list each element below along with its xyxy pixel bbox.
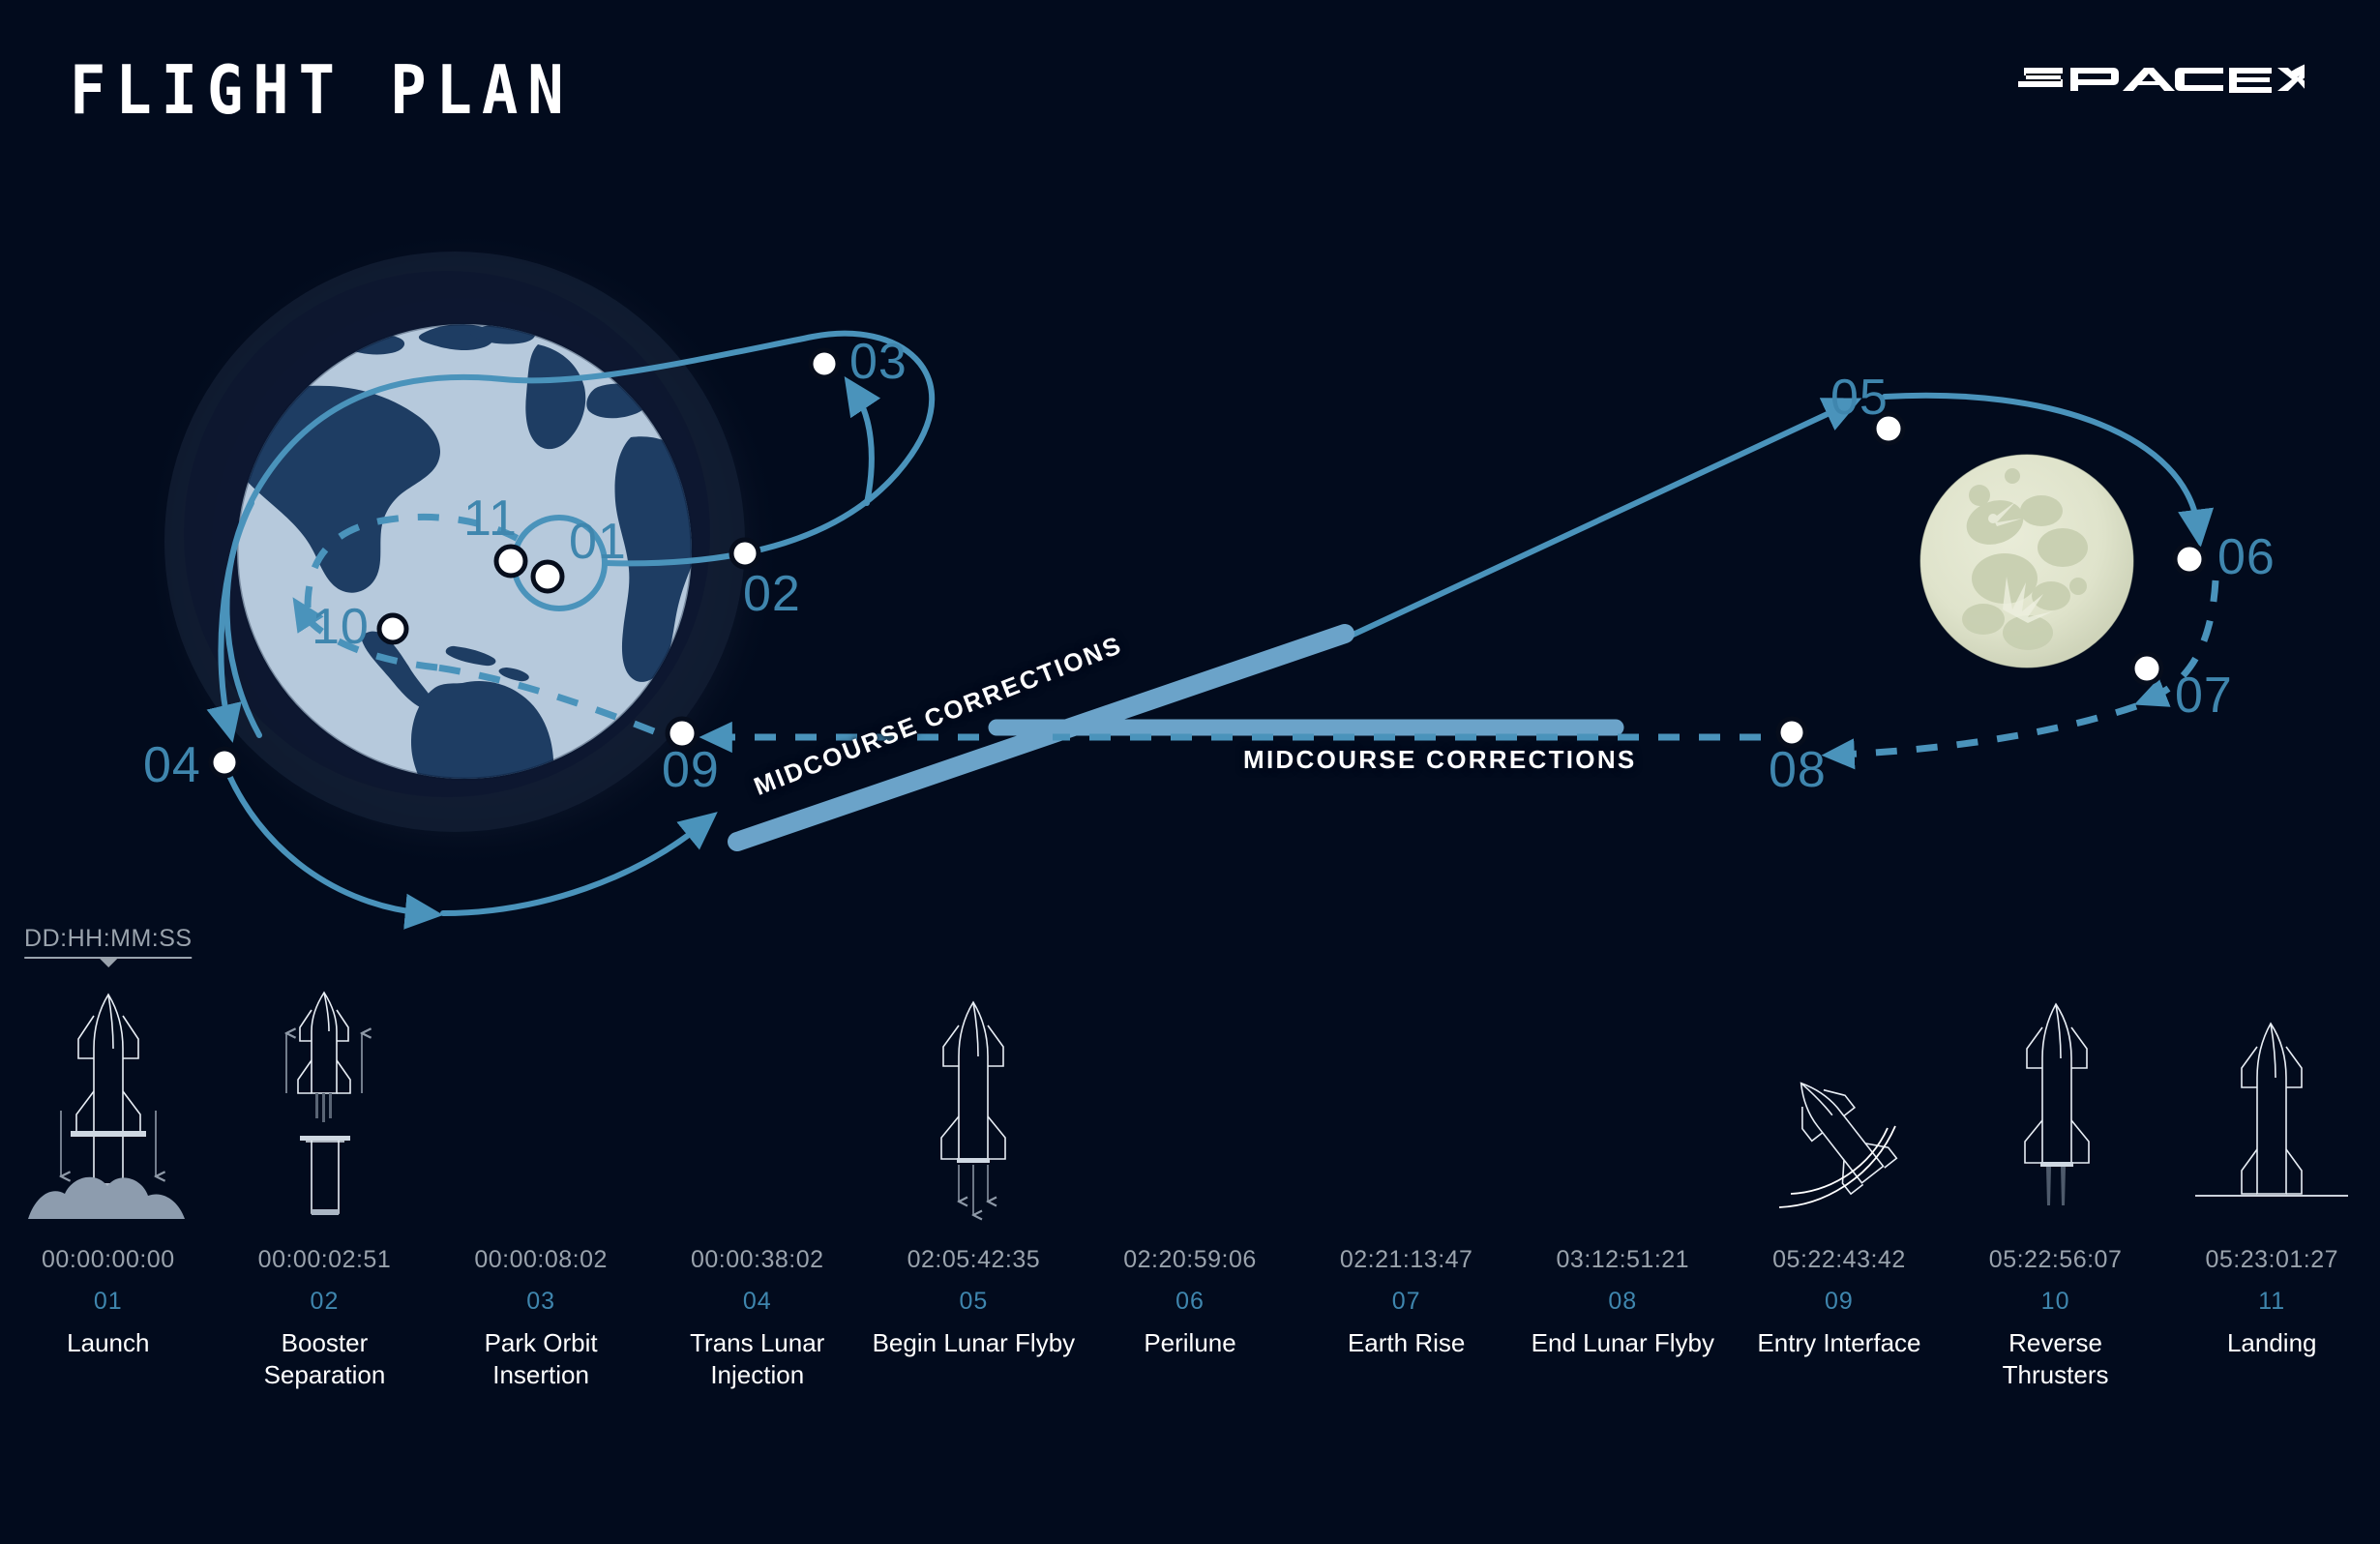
marker-dot-11 bbox=[496, 547, 525, 576]
map-marker-label-10: 10 bbox=[312, 602, 370, 652]
timeline-step-08[interactable]: 03:12:51:21 08 End Lunar Flyby bbox=[1514, 987, 1731, 1359]
step-label: Trans Lunar Injection bbox=[656, 1327, 859, 1392]
step-timestamp: 02:20:59:06 bbox=[1123, 1246, 1257, 1274]
rocket-launch-icon bbox=[0, 987, 217, 1219]
map-marker-label-04: 04 bbox=[143, 740, 201, 790]
marker-dot-10 bbox=[379, 615, 406, 642]
timeline-step-06[interactable]: 02:20:59:06 06 Perilune bbox=[1082, 987, 1298, 1359]
step-timestamp: 02:21:13:47 bbox=[1340, 1246, 1473, 1274]
step-number: 06 bbox=[1175, 1288, 1205, 1316]
timeline-step-07[interactable]: 02:21:13:47 07 Earth Rise bbox=[1298, 987, 1515, 1359]
step-number: 08 bbox=[1608, 1288, 1637, 1316]
moon-globe bbox=[1920, 455, 2133, 668]
map-marker-label-05: 05 bbox=[1830, 372, 1889, 423]
timeline-step-03[interactable]: 00:00:08:02 03 Park Orbit Insertion bbox=[432, 987, 649, 1392]
step-label: Booster Separation bbox=[223, 1327, 426, 1392]
mission-timeline: 00:00:00:00 01 Launch DD:HH:MM:SS bbox=[0, 987, 2380, 1529]
step-number: 11 bbox=[2258, 1288, 2285, 1316]
timeline-step-01[interactable]: 00:00:00:00 01 Launch DD:HH:MM:SS bbox=[0, 987, 217, 1359]
trans-lunar-injection-icon bbox=[649, 987, 866, 1219]
marker-dot-01 bbox=[533, 562, 562, 591]
step-label: Landing bbox=[2227, 1327, 2317, 1359]
map-marker-label-09: 09 bbox=[662, 745, 720, 795]
map-marker-label-08: 08 bbox=[1769, 745, 1827, 795]
park-orbit-arrow-path bbox=[855, 393, 872, 503]
timeline-step-10[interactable]: 05:22:56:07 10 Reverse Thrusters bbox=[1948, 987, 2164, 1392]
step-timestamp: 02:05:42:35 bbox=[907, 1246, 1041, 1274]
time-format-legend: DD:HH:MM:SS bbox=[24, 925, 193, 967]
step-number: 07 bbox=[1392, 1288, 1421, 1316]
step-number: 04 bbox=[743, 1288, 772, 1316]
step-number: 10 bbox=[2041, 1288, 2070, 1316]
step-label: Reverse Thrusters bbox=[1954, 1327, 2157, 1392]
marker-dot-07 bbox=[2132, 654, 2161, 683]
step-number: 03 bbox=[526, 1288, 555, 1316]
thruster-plumes bbox=[2046, 1167, 2066, 1205]
timeline-step-02[interactable]: 00:00:02:51 02 Booster Separation bbox=[217, 987, 433, 1392]
timeline-step-11[interactable]: 05:23:01:27 11 Landing bbox=[2163, 987, 2380, 1359]
step-timestamp: 05:22:43:42 bbox=[1772, 1246, 1906, 1274]
step-number: 05 bbox=[959, 1288, 988, 1316]
perilune-icon bbox=[1082, 987, 1298, 1219]
step-label: End Lunar Flyby bbox=[1532, 1327, 1714, 1359]
reverse-thrusters-icon bbox=[1948, 987, 2164, 1219]
map-marker-label-02: 02 bbox=[743, 569, 801, 619]
step-timestamp: 05:23:01:27 bbox=[2205, 1246, 2338, 1274]
flight-plan-infographic: FLIGHT PLAN bbox=[0, 0, 2380, 1544]
outbound-cruise-path bbox=[1345, 406, 1844, 638]
map-marker-label-07: 07 bbox=[2175, 670, 2233, 721]
time-format-text: DD:HH:MM:SS bbox=[24, 925, 193, 957]
map-marker-label-11: 11 bbox=[463, 493, 518, 544]
end-lunar-flyby-icon bbox=[1514, 987, 1731, 1219]
step-timestamp: 00:00:38:02 bbox=[691, 1246, 824, 1274]
marker-dot-04 bbox=[211, 749, 238, 776]
reentry-shock-arcs bbox=[1779, 1126, 1895, 1207]
step-number: 02 bbox=[311, 1288, 340, 1316]
midcourse-corrections-label-inbound: MIDCOURSE CORRECTIONS bbox=[1243, 745, 1637, 775]
step-number: 01 bbox=[94, 1288, 123, 1316]
step-timestamp: 05:22:56:07 bbox=[1989, 1246, 2123, 1274]
timeline-step-05[interactable]: 02:05:42:35 05 Begin Lunar Flyby bbox=[866, 987, 1083, 1359]
timeline-step-09[interactable]: 05:22:43:42 09 Entry Interface bbox=[1731, 987, 1948, 1359]
trajectory-diagram bbox=[0, 0, 2380, 967]
landing-icon bbox=[2163, 987, 2380, 1219]
marker-dot-06 bbox=[2175, 545, 2204, 574]
map-marker-label-01: 01 bbox=[569, 517, 627, 567]
marker-dot-03 bbox=[811, 350, 838, 377]
map-marker-label-06: 06 bbox=[2217, 532, 2276, 582]
booster-separation-icon bbox=[217, 987, 433, 1219]
timeline-step-04[interactable]: 00:00:38:02 04 Trans Lunar Injection bbox=[649, 987, 866, 1392]
earth-rise-icon bbox=[1298, 987, 1515, 1219]
booster-body bbox=[306, 1138, 344, 1213]
step-label: Entry Interface bbox=[1757, 1327, 1920, 1359]
inbound-dashed-path-1 bbox=[1838, 706, 2136, 755]
park-orbit-icon bbox=[432, 987, 649, 1219]
step-label: Begin Lunar Flyby bbox=[873, 1327, 1076, 1359]
step-label: Perilune bbox=[1144, 1327, 1235, 1359]
step-timestamp: 00:00:02:51 bbox=[258, 1246, 392, 1274]
map-marker-label-03: 03 bbox=[849, 337, 907, 387]
step-timestamp: 00:00:08:02 bbox=[474, 1246, 608, 1274]
step-label: Earth Rise bbox=[1348, 1327, 1465, 1359]
step-timestamp: 03:12:51:21 bbox=[1557, 1246, 1690, 1274]
begin-lunar-flyby-icon bbox=[866, 987, 1083, 1219]
marker-dot-02 bbox=[731, 540, 759, 567]
step-label: Park Orbit Insertion bbox=[439, 1327, 642, 1392]
step-number: 09 bbox=[1825, 1288, 1854, 1316]
step-label: Launch bbox=[67, 1327, 149, 1359]
legend-pointer bbox=[100, 959, 117, 967]
entry-interface-icon bbox=[1731, 987, 1948, 1219]
step-timestamp: 00:00:00:00 bbox=[42, 1246, 175, 1274]
